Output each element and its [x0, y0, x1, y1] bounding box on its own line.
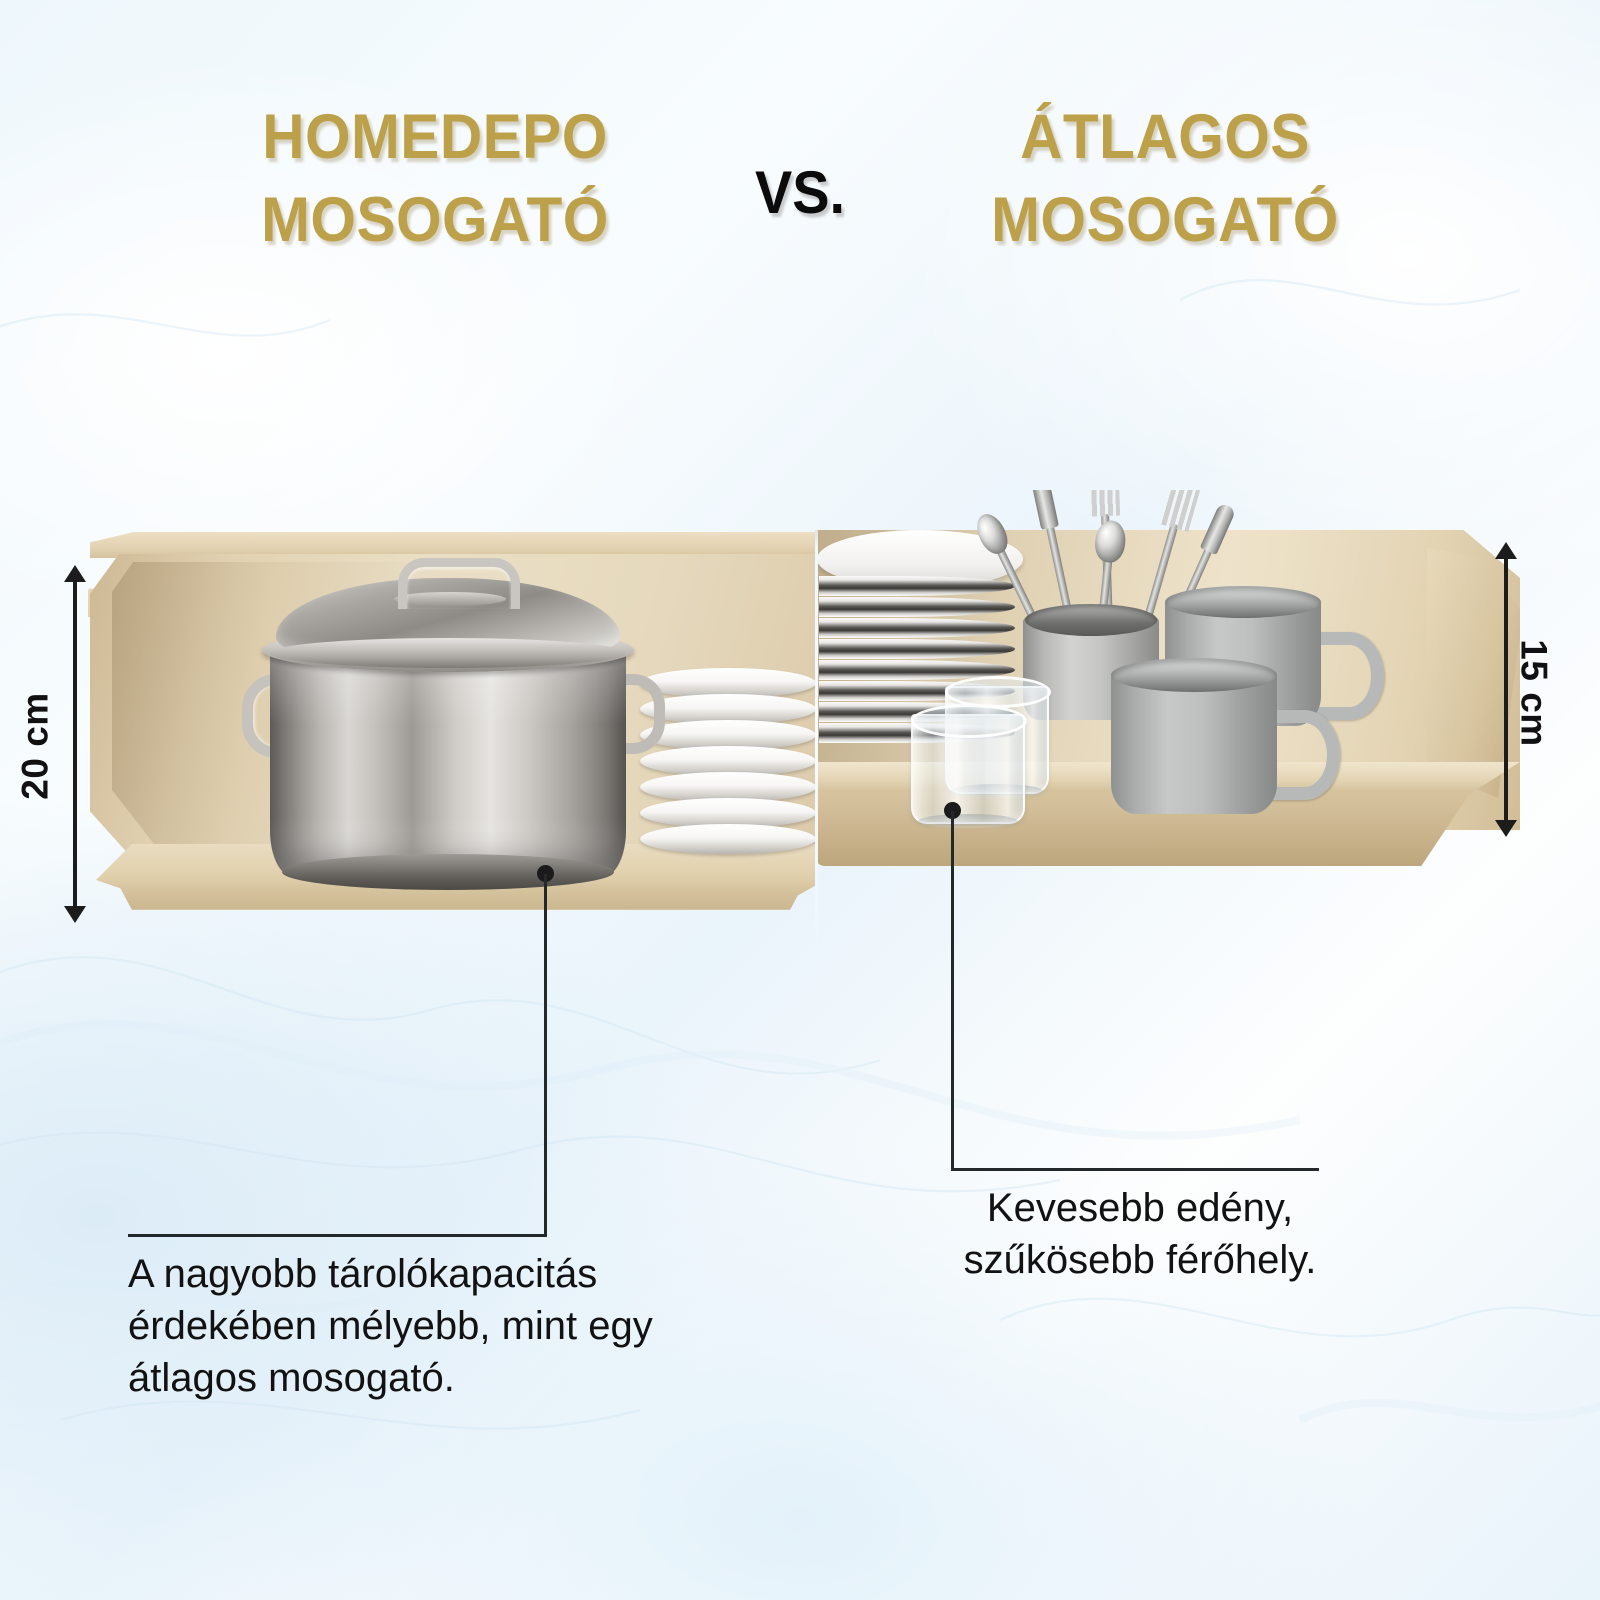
- mug-front-handle: [1269, 710, 1340, 800]
- glass-front-base: [918, 814, 1018, 828]
- infographic-canvas: HOMEDEPO MOSOGATÓ VS. ÁTLAGOS MOSOGATÓ: [0, 0, 1600, 1600]
- callout-hline-left: [128, 1234, 547, 1237]
- left-sink-scene: [80, 490, 815, 960]
- dimension-arrow-left: [55, 565, 95, 923]
- callout-vline-left: [544, 874, 547, 1236]
- dimension-line-right: [1504, 554, 1508, 825]
- pot-lid-edge: [270, 638, 626, 668]
- mug-back-rim: [1165, 586, 1321, 618]
- headline-right: ÁTLAGOS MOSOGATÓ: [885, 96, 1445, 262]
- caption-left: A nagyobb tárolókapacitás érdekében mély…: [128, 1248, 688, 1404]
- mug-front-body: [1111, 672, 1277, 814]
- headline-left-line1: HOMEDEPO: [175, 96, 696, 179]
- arrow-head-down-right: [1495, 820, 1517, 837]
- pot-lid-handle: [398, 558, 520, 609]
- headline-right-line2: MOSOGATÓ: [905, 179, 1426, 262]
- product-comparison-image: [80, 490, 1520, 960]
- mug-front-rim: [1111, 658, 1277, 692]
- versus-label: VS.: [721, 158, 879, 227]
- mug-front: [1111, 658, 1321, 826]
- callout-vline-right: [951, 811, 954, 1170]
- callout-hline-right: [951, 1168, 1319, 1171]
- headline-block: HOMEDEPO MOSOGATÓ VS. ÁTLAGOS MOSOGATÓ: [0, 96, 1600, 286]
- arrow-head-down-left: [64, 906, 86, 923]
- headline-right-line1: ÁTLAGOS: [905, 96, 1426, 179]
- dimension-label-left: 20 cm: [15, 692, 57, 799]
- pot-base: [282, 854, 614, 890]
- plate-stack-left: [640, 668, 815, 858]
- stockpot: [248, 556, 648, 886]
- dimension-line-left: [73, 577, 77, 911]
- mug-back-handle: [1315, 632, 1384, 720]
- headline-left-line2: MOSOGATÓ: [175, 179, 696, 262]
- pot-sheen: [270, 646, 626, 876]
- holder-opening: [1025, 604, 1157, 636]
- glass-front: [911, 704, 1025, 830]
- dimension-label-right: 15 cm: [1513, 639, 1555, 746]
- headline-left: HOMEDEPO MOSOGATÓ: [155, 96, 715, 262]
- caption-right: Kevesebb edény, szűkösebb férőhely.: [905, 1182, 1375, 1286]
- glass-front-rim: [911, 704, 1027, 738]
- right-sink-scene: [815, 490, 1520, 960]
- split-seam: [815, 490, 818, 960]
